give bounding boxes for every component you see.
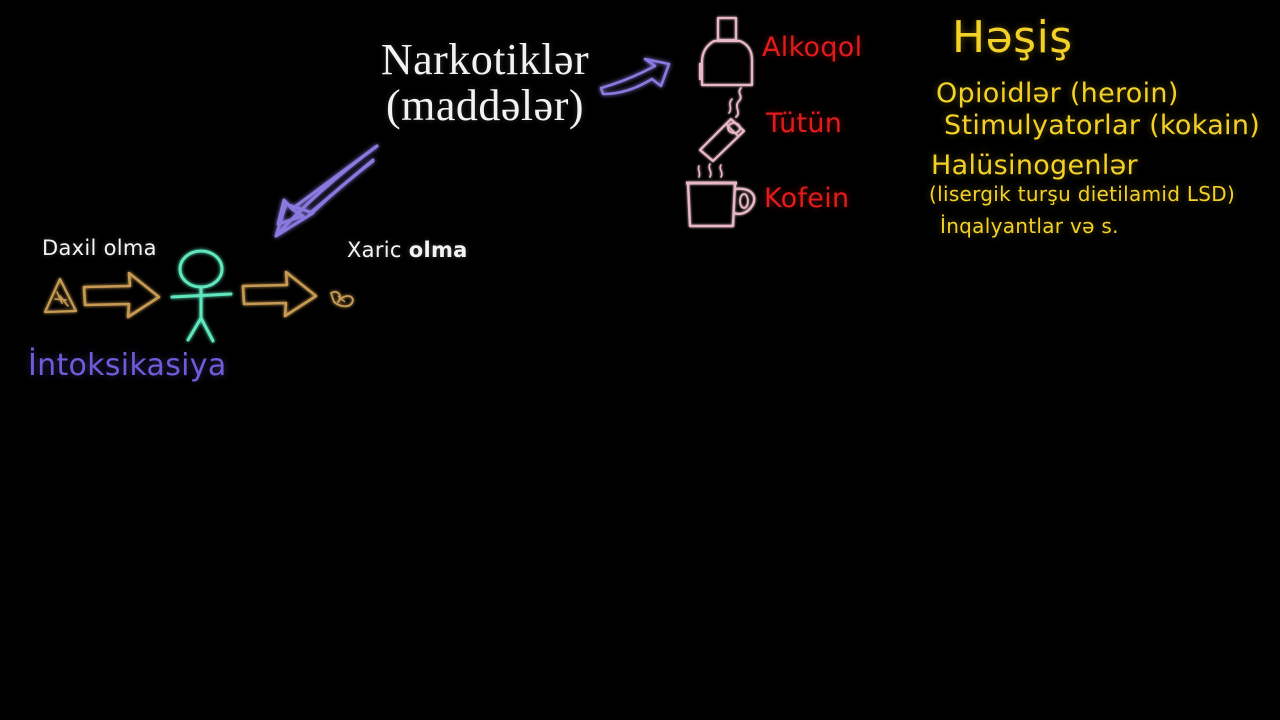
intake-label: Daxil olma	[42, 236, 157, 260]
cigarette-icon	[700, 88, 744, 161]
purple-right-arrow-icon	[601, 59, 669, 94]
bottle-icon	[700, 18, 752, 85]
substance-label-tutun: Tütün	[766, 108, 842, 139]
output-label: Xaric olma	[347, 238, 468, 262]
purple-down-left-arrow-icon	[276, 146, 377, 236]
whiteboard-canvas: Narkotiklər (maddələr) Daxil olma Xaric …	[0, 0, 1280, 720]
drug-class-heading: Həşiş	[952, 12, 1073, 63]
drug-class-item-lsd-note: (lisergik turşu dietilamid LSD)	[929, 182, 1235, 206]
drug-class-item-hallucinogens: Halüsinogenlər	[931, 150, 1138, 181]
output-right-arrow-icon	[243, 272, 316, 316]
substance-label-alkoqol: Alkoqol	[762, 32, 862, 63]
page-title: Narkotiklər (maddələr)	[360, 38, 610, 128]
title-line-1: Narkotiklər	[381, 35, 589, 84]
title-line-2: (maddələr)	[360, 84, 610, 128]
output-label-strong: olma	[409, 238, 468, 262]
state-label: İntoksikasiya	[28, 348, 227, 383]
drug-class-item-inhalants: İnqalyantlar və s.	[940, 214, 1119, 238]
stick-figure-icon	[172, 251, 231, 341]
coffee-cup-icon	[686, 164, 754, 226]
triangle-pill-icon	[45, 279, 76, 312]
substance-label-kofein: Kofein	[764, 183, 849, 214]
excretion-scribble-icon	[331, 292, 353, 306]
drug-class-item-stimulants: Stimulyatorlar (kokain)	[944, 110, 1260, 141]
drug-class-item-opioids: Opioidlər (heroin)	[936, 78, 1179, 109]
output-label-plain: Xaric	[347, 238, 409, 262]
intake-right-arrow-icon	[84, 273, 159, 317]
